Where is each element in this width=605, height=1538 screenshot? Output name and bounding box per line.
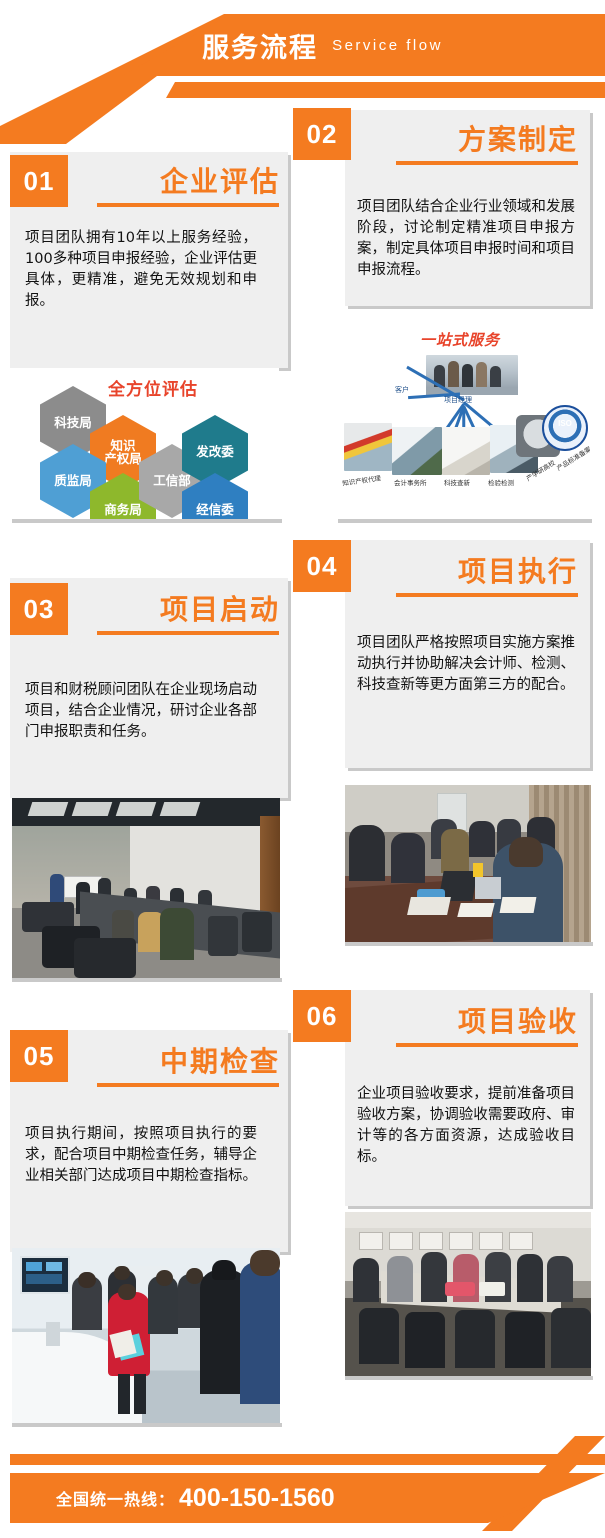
conference-room-photo [12,798,280,978]
page-header: 服务流程 Service flow [0,0,605,120]
card-01-title-rule [97,203,279,207]
card-04-title-rule [396,593,578,597]
card-04-description: 项目团队严格按照项目实施方案推动执行并协助解决会计师、检测、科技查新等更方面第三… [357,633,575,696]
hotline-number[interactable]: 400-150-1560 [179,1484,335,1513]
card-02-title-rule [396,161,578,165]
oss-branch-label-1: 会计事务所 [394,477,427,487]
hotline-label: 全国统一热线： [56,1486,175,1510]
footer-stripe [10,1454,605,1465]
meeting-working-photo [345,785,591,942]
card-03-bottom-shadow [12,978,282,982]
hex-node-2-label: 质监局 [54,474,92,487]
card-06-description: 企业项目验收要求，提前准备项目验收方案，协调验收需要政府、审计等的各方面资源，达… [357,1084,575,1168]
page-subtitle: Service flow [332,37,443,54]
card-05-title: 中期检查 [80,1040,280,1080]
card-06-bottom-shadow [345,1376,593,1380]
hotline-group: 全国统一热线： 400-150-1560 [56,1473,335,1523]
page-title: 服务流程 [202,26,318,65]
oss-branch-label-3: 检验检测 [488,477,514,487]
oss-branch-photo-1 [392,427,442,475]
site-visit-photo [12,1248,280,1423]
hex-node-3-label: 商务局 [104,503,142,516]
oss-branch-label-2: 科技查新 [444,477,470,487]
header-title-group: 服务流程 Service flow [0,14,605,76]
oss-center-photo [426,355,518,395]
card-05-title-rule [97,1083,279,1087]
acceptance-meeting-photo [345,1212,591,1376]
card-03-number: 03 [24,594,55,625]
hex-node-6-label: 经信委 [196,503,234,516]
hex-chart-title: 全方位评估 [108,375,198,400]
card-05-number-badge: 05 [10,1030,68,1082]
oss-branch-photo-0 [344,423,392,471]
card-04-number: 04 [307,551,338,582]
card-02-description: 项目团队结合企业行业领域和发展阶段，讨论制定精准项目申报方案，制定具体项目申报时… [357,197,575,281]
hex-node-1-label: 知识 产权局 [104,439,142,465]
card-01-bottom-shadow [12,519,282,523]
page-footer: 全国统一热线： 400-150-1560 [0,1418,605,1538]
card-02-number: 02 [307,119,338,150]
card-01-number-badge: 01 [10,155,68,207]
oss-branch-label-0: 知识产权代理 [341,472,381,487]
oss-node-customer: 客户 [395,385,409,395]
card-01-description: 项目团队拥有10年以上服务经验，100多种项目申报经验，企业评估更具体，更精准，… [25,228,257,312]
card-06-number: 06 [307,1001,338,1032]
card-06-title: 项目验收 [370,1000,578,1040]
card-03-number-badge: 03 [10,583,68,635]
card-03-title-rule [97,631,279,635]
oss-node-manager: 项目经理 [444,395,472,405]
card-04-title: 项目执行 [370,550,578,590]
hex-node-5-label: 发改委 [196,445,234,458]
card-05-number: 05 [24,1041,55,1072]
card-01-number: 01 [24,166,55,197]
card-04-number-badge: 04 [293,540,351,592]
card-06-title-rule [396,1043,578,1047]
oss-branch-photo-2 [442,427,490,475]
card-03-description: 项目和财税顾问团队在企业现场启动项目，结合企业情况，研讨企业各部门申报职责和任务… [25,680,257,743]
card-05-description: 项目执行期间，按照项目执行的要求，配合项目中期检查任务，辅导企业相关部门达成项目… [25,1124,257,1187]
card-02-bottom-shadow [338,519,592,523]
card-02-title: 方案制定 [370,118,578,158]
hexagon-evaluation-chart: 全方位评估 科技局 知识 产权局 质监局 商务局 工信部 发改委 经信委 [12,368,279,520]
hex-node-0-label: 科技局 [54,416,92,429]
one-stop-service-diagram: 一站式服务 客户 项目经理 ISO 知识产权代理 会计事务所 科技 [338,327,590,522]
oss-title: 一站式服务 [420,329,500,350]
card-04-bottom-shadow [345,942,593,946]
card-01-title: 企业评估 [80,160,280,200]
hex-node-4-label: 工信部 [153,474,191,487]
card-03-title: 项目启动 [80,588,280,628]
card-06-number-badge: 06 [293,990,351,1042]
iso-seal-icon: ISO [542,405,588,451]
iso-seal-label: ISO [544,419,586,428]
card-02-number-badge: 02 [293,108,351,160]
